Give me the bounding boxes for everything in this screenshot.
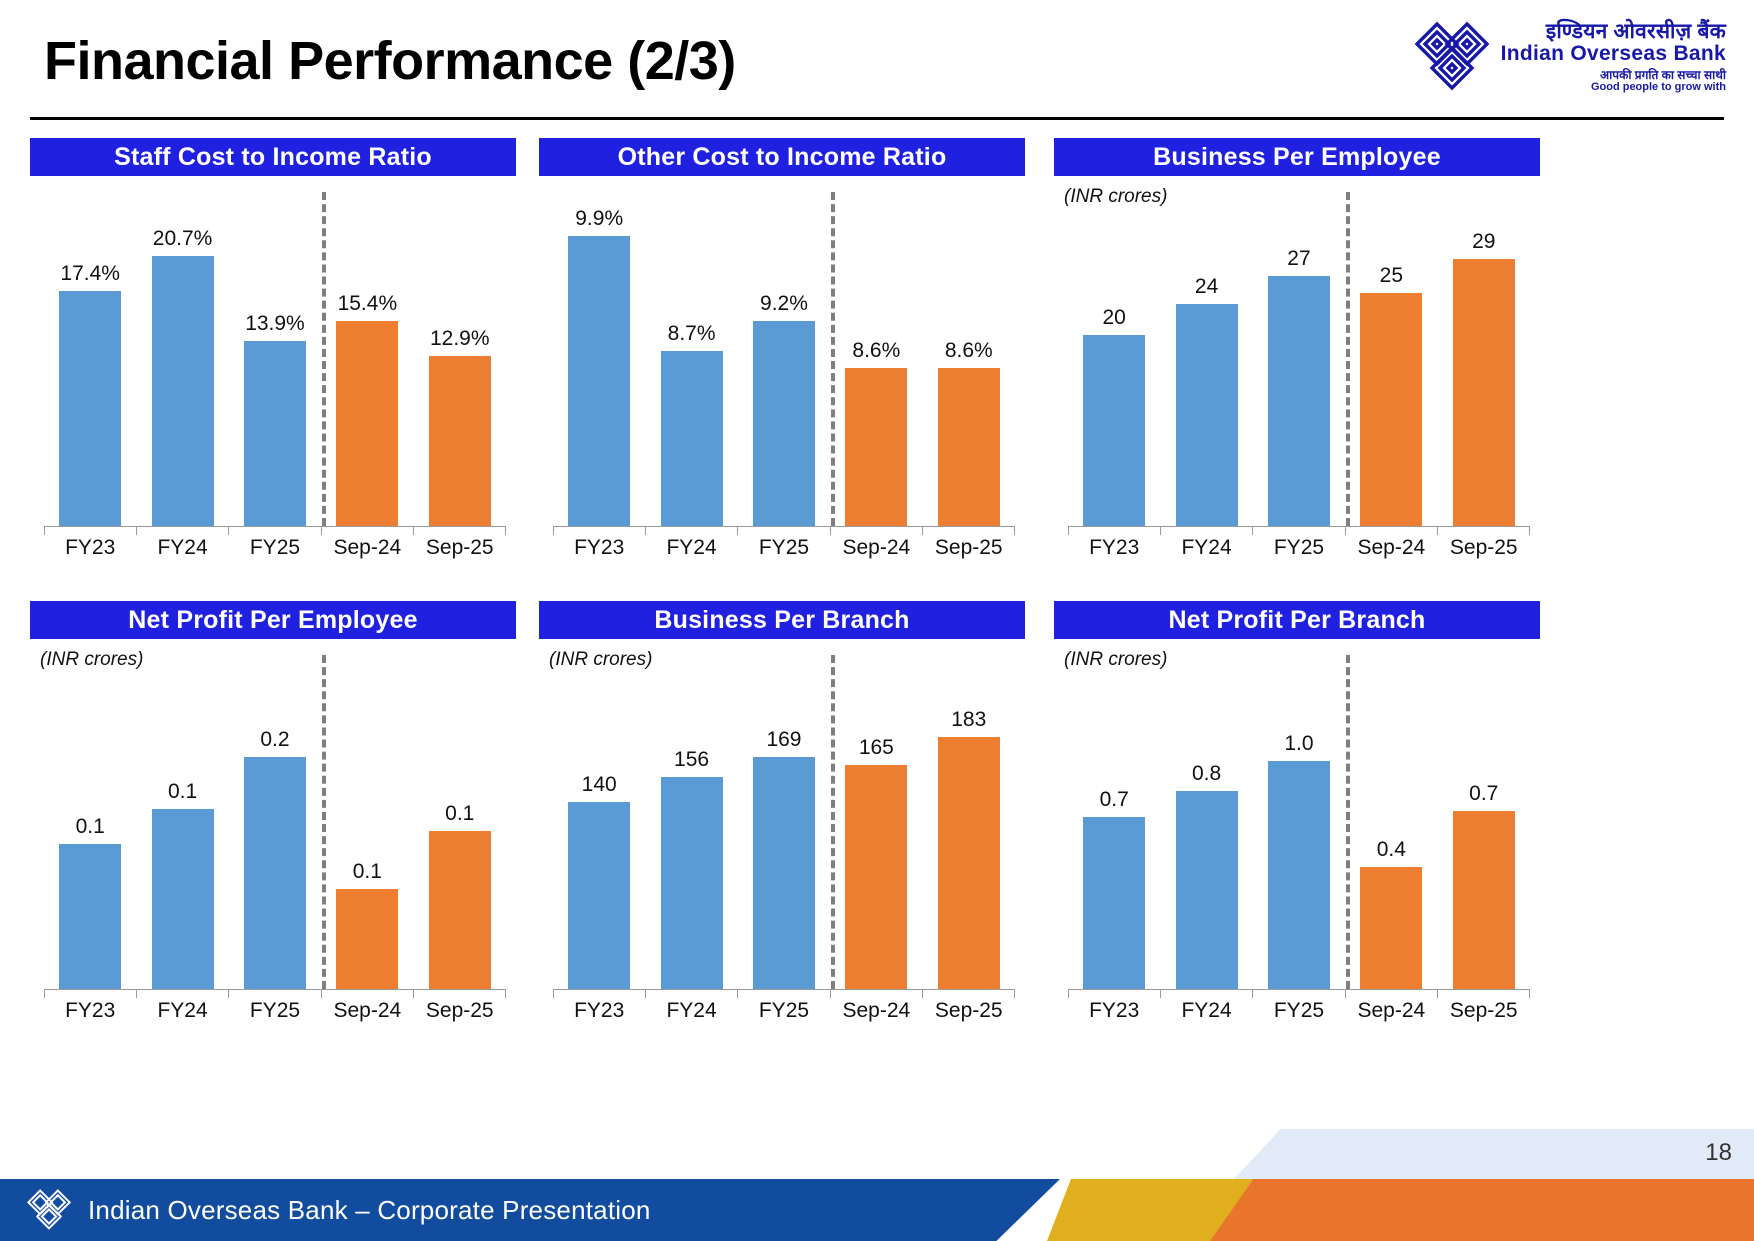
- chart-plot-area: 0.70.81.00.40.7: [1054, 649, 1540, 989]
- period-divider-dashed-line: [322, 192, 326, 526]
- chart-card-other-cost-to-income-ratio: Other Cost to Income Ratio9.9%8.7%9.2%8.…: [539, 138, 1025, 568]
- chart-title: Staff Cost to Income Ratio: [114, 143, 432, 172]
- bar-column[interactable]: 12.9%: [429, 186, 491, 526]
- bar-column[interactable]: 0.7: [1083, 649, 1145, 989]
- axis-tick: [553, 989, 554, 998]
- bar-value-label: 15.4%: [338, 292, 398, 316]
- bar-column[interactable]: 25: [1360, 186, 1422, 526]
- bar-column[interactable]: 0.1: [429, 649, 491, 989]
- x-axis-tick-label: Sep-24: [1346, 536, 1436, 560]
- axis-tick: [830, 989, 831, 998]
- chart-grid: Staff Cost to Income Ratio17.4%20.7%13.9…: [0, 138, 1754, 1008]
- x-axis-tick-label: Sep-25: [415, 536, 505, 560]
- chart-card-business-per-employee: Business Per Employee(INR crores)2024272…: [1054, 138, 1540, 568]
- x-axis-tick-label: FY23: [1069, 536, 1159, 560]
- x-axis-ticks: [553, 526, 1015, 535]
- bar-column[interactable]: 13.9%: [244, 186, 306, 526]
- axis-tick: [1160, 526, 1161, 535]
- x-axis-tick-label: Sep-24: [322, 536, 412, 560]
- bar-column[interactable]: 9.9%: [568, 186, 630, 526]
- bar-blue[interactable]: [568, 802, 630, 989]
- bar-value-label: 9.2%: [760, 292, 808, 316]
- bar-value-label: 8.6%: [852, 339, 900, 363]
- chart-title: Business Per Branch: [654, 606, 909, 635]
- bar-orange[interactable]: [845, 765, 907, 989]
- bar-value-label: 8.7%: [668, 322, 716, 346]
- chart-plot-area: 2024272529: [1054, 186, 1540, 526]
- x-axis-tick-label: FY24: [1162, 999, 1252, 1023]
- axis-tick: [1345, 989, 1346, 998]
- bar-value-label: 0.1: [76, 815, 105, 839]
- bar-column[interactable]: 8.6%: [938, 186, 1000, 526]
- x-axis-tick-label: Sep-24: [831, 536, 921, 560]
- bar-value-label: 165: [859, 736, 894, 760]
- axis-tick: [228, 989, 229, 998]
- bar-orange[interactable]: [429, 356, 491, 526]
- period-divider-dashed-line: [322, 655, 326, 989]
- chart-title: Net Profit Per Employee: [128, 606, 417, 635]
- bar-value-label: 156: [674, 748, 709, 772]
- footer-orange-band: [1210, 1179, 1754, 1241]
- chart-title: Other Cost to Income Ratio: [618, 143, 947, 172]
- bar-blue[interactable]: [568, 236, 630, 526]
- bar-blue[interactable]: [244, 341, 306, 526]
- axis-tick: [413, 526, 414, 535]
- chart-bars: 140156169165183: [553, 649, 1015, 989]
- x-axis-tick-label: FY23: [554, 999, 644, 1023]
- bar-blue[interactable]: [152, 809, 214, 989]
- x-axis-tick-label: FY25: [1254, 999, 1344, 1023]
- bar-value-label: 0.7: [1100, 788, 1129, 812]
- x-axis-tick-label: FY25: [1254, 536, 1344, 560]
- x-axis-labels: FY23FY24FY25Sep-24Sep-25: [1068, 999, 1530, 1023]
- chart-title: Business Per Employee: [1153, 143, 1441, 172]
- bar-column[interactable]: 0.1: [59, 649, 121, 989]
- x-axis-labels: FY23FY24FY25Sep-24Sep-25: [553, 999, 1015, 1023]
- bar-column[interactable]: 169: [753, 649, 815, 989]
- x-axis-tick-label: FY24: [1162, 536, 1252, 560]
- iob-diamond-logo-icon: [1413, 20, 1491, 94]
- bar-column[interactable]: 8.6%: [845, 186, 907, 526]
- footer-light-band: [1234, 1129, 1754, 1179]
- axis-tick: [830, 526, 831, 535]
- bar-value-label: 1.0: [1284, 732, 1313, 756]
- x-axis-tick-label: Sep-25: [924, 536, 1014, 560]
- bar-column[interactable]: 0.1: [336, 649, 398, 989]
- x-axis-tick-label: Sep-25: [1439, 536, 1529, 560]
- chart-bars: 2024272529: [1068, 186, 1530, 526]
- bar-column[interactable]: 1.0: [1268, 649, 1330, 989]
- logo-english-name: Indian Overseas Bank: [1501, 43, 1726, 65]
- bar-value-label: 0.1: [353, 860, 382, 884]
- x-axis-tick-label: FY24: [138, 536, 228, 560]
- x-axis-ticks: [1068, 526, 1530, 535]
- period-divider-dashed-line: [1346, 655, 1350, 989]
- x-axis-ticks: [1068, 989, 1530, 998]
- axis-tick: [1345, 526, 1346, 535]
- bar-blue[interactable]: [244, 757, 306, 989]
- axis-tick: [1437, 526, 1438, 535]
- bar-column[interactable]: 27: [1268, 186, 1330, 526]
- x-axis-tick-label: Sep-25: [415, 999, 505, 1023]
- bar-value-label: 0.2: [260, 728, 289, 752]
- bar-value-label: 25: [1380, 264, 1403, 288]
- chart-card-staff-cost-to-income-ratio: Staff Cost to Income Ratio17.4%20.7%13.9…: [30, 138, 516, 568]
- chart-title-band-other-cost-to-income-ratio: Other Cost to Income Ratio: [539, 138, 1025, 176]
- period-divider-dashed-line: [1346, 192, 1350, 526]
- x-axis-tick-label: FY24: [138, 999, 228, 1023]
- bar-value-label: 9.9%: [575, 207, 623, 231]
- bar-orange[interactable]: [1360, 293, 1422, 526]
- chart-title-band-business-per-branch: Business Per Branch: [539, 601, 1025, 639]
- bar-value-label: 8.6%: [945, 339, 993, 363]
- x-axis-tick-label: Sep-25: [1439, 999, 1529, 1023]
- axis-tick: [321, 526, 322, 535]
- chart-title-band-net-profit-per-branch: Net Profit Per Branch: [1054, 601, 1540, 639]
- x-axis-tick-label: FY25: [230, 536, 320, 560]
- axis-tick: [737, 526, 738, 535]
- bar-column[interactable]: 9.2%: [753, 186, 815, 526]
- chart-title-band-business-per-employee: Business Per Employee: [1054, 138, 1540, 176]
- bar-value-label: 27: [1287, 247, 1310, 271]
- bar-orange[interactable]: [336, 321, 398, 526]
- axis-tick: [645, 526, 646, 535]
- axis-tick: [645, 989, 646, 998]
- x-axis-tick-label: FY23: [45, 536, 135, 560]
- title-divider-rule: [30, 117, 1724, 120]
- bar-blue[interactable]: [1268, 276, 1330, 526]
- bar-orange[interactable]: [938, 368, 1000, 526]
- axis-tick: [553, 526, 554, 535]
- bar-column[interactable]: 165: [845, 649, 907, 989]
- chart-card-net-profit-per-branch: Net Profit Per Branch(INR crores)0.70.81…: [1054, 601, 1540, 1031]
- axis-tick: [413, 989, 414, 998]
- x-axis-labels: FY23FY24FY25Sep-24Sep-25: [553, 536, 1015, 560]
- x-axis-tick-label: FY25: [739, 999, 829, 1023]
- axis-tick: [44, 526, 45, 535]
- x-axis-ticks: [44, 989, 506, 998]
- axis-tick: [1014, 989, 1015, 998]
- axis-tick: [1160, 989, 1161, 998]
- axis-tick: [737, 989, 738, 998]
- bar-blue[interactable]: [1176, 304, 1238, 526]
- bar-column[interactable]: 0.1: [152, 649, 214, 989]
- bar-value-label: 140: [582, 773, 617, 797]
- x-axis-tick-label: FY23: [1069, 999, 1159, 1023]
- axis-tick: [505, 989, 506, 998]
- axis-tick: [44, 989, 45, 998]
- bar-blue[interactable]: [753, 321, 815, 526]
- chart-card-net-profit-per-employee: Net Profit Per Employee(INR crores)0.10.…: [30, 601, 516, 1031]
- chart-plot-area: 0.10.10.20.10.1: [30, 649, 516, 989]
- bar-column[interactable]: 0.4: [1360, 649, 1422, 989]
- bar-orange[interactable]: [336, 889, 398, 989]
- bar-orange[interactable]: [938, 737, 1000, 989]
- bar-column[interactable]: 15.4%: [336, 186, 398, 526]
- x-axis-tick-label: FY23: [554, 536, 644, 560]
- axis-tick: [922, 526, 923, 535]
- x-axis-tick-label: Sep-24: [1346, 999, 1436, 1023]
- bar-value-label: 17.4%: [60, 262, 120, 286]
- bar-blue[interactable]: [1268, 761, 1330, 989]
- bar-orange[interactable]: [429, 831, 491, 989]
- bar-column[interactable]: 156: [661, 649, 723, 989]
- bar-column[interactable]: 20.7%: [152, 186, 214, 526]
- x-axis-labels: FY23FY24FY25Sep-24Sep-25: [44, 536, 506, 560]
- x-axis-labels: FY23FY24FY25Sep-24Sep-25: [1068, 536, 1530, 560]
- slide: Financial Performance (2/3) इण्डियन ओवरस…: [0, 0, 1754, 1241]
- axis-tick: [922, 989, 923, 998]
- x-axis-tick-label: FY23: [45, 999, 135, 1023]
- bar-column[interactable]: 0.8: [1176, 649, 1238, 989]
- chart-plot-area: 9.9%8.7%9.2%8.6%8.6%: [539, 186, 1025, 526]
- bar-column[interactable]: 140: [568, 649, 630, 989]
- x-axis-tick-label: FY24: [647, 999, 737, 1023]
- bar-column[interactable]: 20: [1083, 186, 1145, 526]
- axis-tick: [228, 526, 229, 535]
- bar-blue[interactable]: [661, 351, 723, 526]
- x-axis-ticks: [44, 526, 506, 535]
- axis-tick: [136, 989, 137, 998]
- chart-bars: 0.70.81.00.40.7: [1068, 649, 1530, 989]
- chart-title-band-net-profit-per-employee: Net Profit Per Employee: [30, 601, 516, 639]
- axis-tick: [1252, 526, 1253, 535]
- period-divider-dashed-line: [831, 192, 835, 526]
- bar-orange[interactable]: [1453, 259, 1515, 526]
- bar-blue[interactable]: [1083, 817, 1145, 989]
- bar-value-label: 24: [1195, 275, 1218, 299]
- bar-blue[interactable]: [59, 291, 121, 526]
- bar-value-label: 0.1: [168, 780, 197, 804]
- axis-tick: [1014, 526, 1015, 535]
- bar-orange[interactable]: [845, 368, 907, 526]
- chart-bars: 17.4%20.7%13.9%15.4%12.9%: [44, 186, 506, 526]
- x-axis-tick-label: Sep-24: [322, 999, 412, 1023]
- chart-title-band-staff-cost-to-income-ratio: Staff Cost to Income Ratio: [30, 138, 516, 176]
- bar-column[interactable]: 0.2: [244, 649, 306, 989]
- bar-column[interactable]: 8.7%: [661, 186, 723, 526]
- bar-blue[interactable]: [152, 256, 214, 526]
- x-axis-tick-label: Sep-24: [831, 999, 921, 1023]
- chart-plot-area: 17.4%20.7%13.9%15.4%12.9%: [30, 186, 516, 526]
- bar-value-label: 0.8: [1192, 762, 1221, 786]
- axis-tick: [1068, 526, 1069, 535]
- bar-column[interactable]: 183: [938, 649, 1000, 989]
- bar-blue[interactable]: [661, 777, 723, 989]
- bar-value-label: 13.9%: [245, 312, 305, 336]
- x-axis-labels: FY23FY24FY25Sep-24Sep-25: [44, 999, 506, 1023]
- x-axis-ticks: [553, 989, 1015, 998]
- bar-blue[interactable]: [1083, 335, 1145, 526]
- axis-tick: [505, 526, 506, 535]
- bar-column[interactable]: 17.4%: [59, 186, 121, 526]
- chart-plot-area: 140156169165183: [539, 649, 1025, 989]
- page-number: 18: [1705, 1139, 1732, 1167]
- period-divider-dashed-line: [831, 655, 835, 989]
- axis-tick: [321, 989, 322, 998]
- x-axis-tick-label: FY25: [230, 999, 320, 1023]
- chart-title: Net Profit Per Branch: [1168, 606, 1425, 635]
- bar-orange[interactable]: [1453, 811, 1515, 989]
- logo-hindi-tagline: आपकी प्रगति का सच्चा साथी: [1600, 69, 1726, 82]
- chart-card-business-per-branch: Business Per Branch(INR crores)140156169…: [539, 601, 1025, 1031]
- bar-blue[interactable]: [1176, 791, 1238, 989]
- x-axis-tick-label: Sep-25: [924, 999, 1014, 1023]
- axis-tick: [136, 526, 137, 535]
- axis-tick: [1529, 989, 1530, 998]
- bar-value-label: 20: [1103, 306, 1126, 330]
- bar-blue[interactable]: [59, 844, 121, 989]
- page-title: Financial Performance (2/3): [44, 30, 736, 92]
- axis-tick: [1252, 989, 1253, 998]
- bar-orange[interactable]: [1360, 867, 1422, 989]
- bar-column[interactable]: 0.7: [1453, 649, 1515, 989]
- bar-value-label: 29: [1472, 230, 1495, 254]
- bar-value-label: 12.9%: [430, 327, 490, 351]
- bar-value-label: 169: [766, 728, 801, 752]
- axis-tick: [1437, 989, 1438, 998]
- x-axis-tick-label: FY25: [739, 536, 829, 560]
- footer-diamond-logo-icon: [26, 1187, 72, 1233]
- bar-column[interactable]: 24: [1176, 186, 1238, 526]
- bar-column[interactable]: 29: [1453, 186, 1515, 526]
- bar-value-label: 20.7%: [153, 227, 213, 251]
- bar-value-label: 0.4: [1377, 838, 1406, 862]
- chart-bars: 9.9%8.7%9.2%8.6%8.6%: [553, 186, 1015, 526]
- bank-logo: इण्डियन ओवरसीज़ बैंक Indian Overseas Ban…: [1413, 20, 1726, 94]
- axis-tick: [1068, 989, 1069, 998]
- axis-tick: [1529, 526, 1530, 535]
- bar-value-label: 0.7: [1469, 782, 1498, 806]
- bar-value-label: 0.1: [445, 802, 474, 826]
- chart-bars: 0.10.10.20.10.1: [44, 649, 506, 989]
- x-axis-tick-label: FY24: [647, 536, 737, 560]
- bar-value-label: 183: [951, 708, 986, 732]
- footer-bar: Indian Overseas Bank – Corporate Present…: [0, 1179, 1754, 1241]
- footer-text: Indian Overseas Bank – Corporate Present…: [88, 1179, 651, 1241]
- bar-blue[interactable]: [753, 757, 815, 989]
- logo-hindi-name: इण्डियन ओवरसीज़ बैंक: [1546, 21, 1726, 43]
- logo-english-tagline: Good people to grow with: [1591, 82, 1726, 94]
